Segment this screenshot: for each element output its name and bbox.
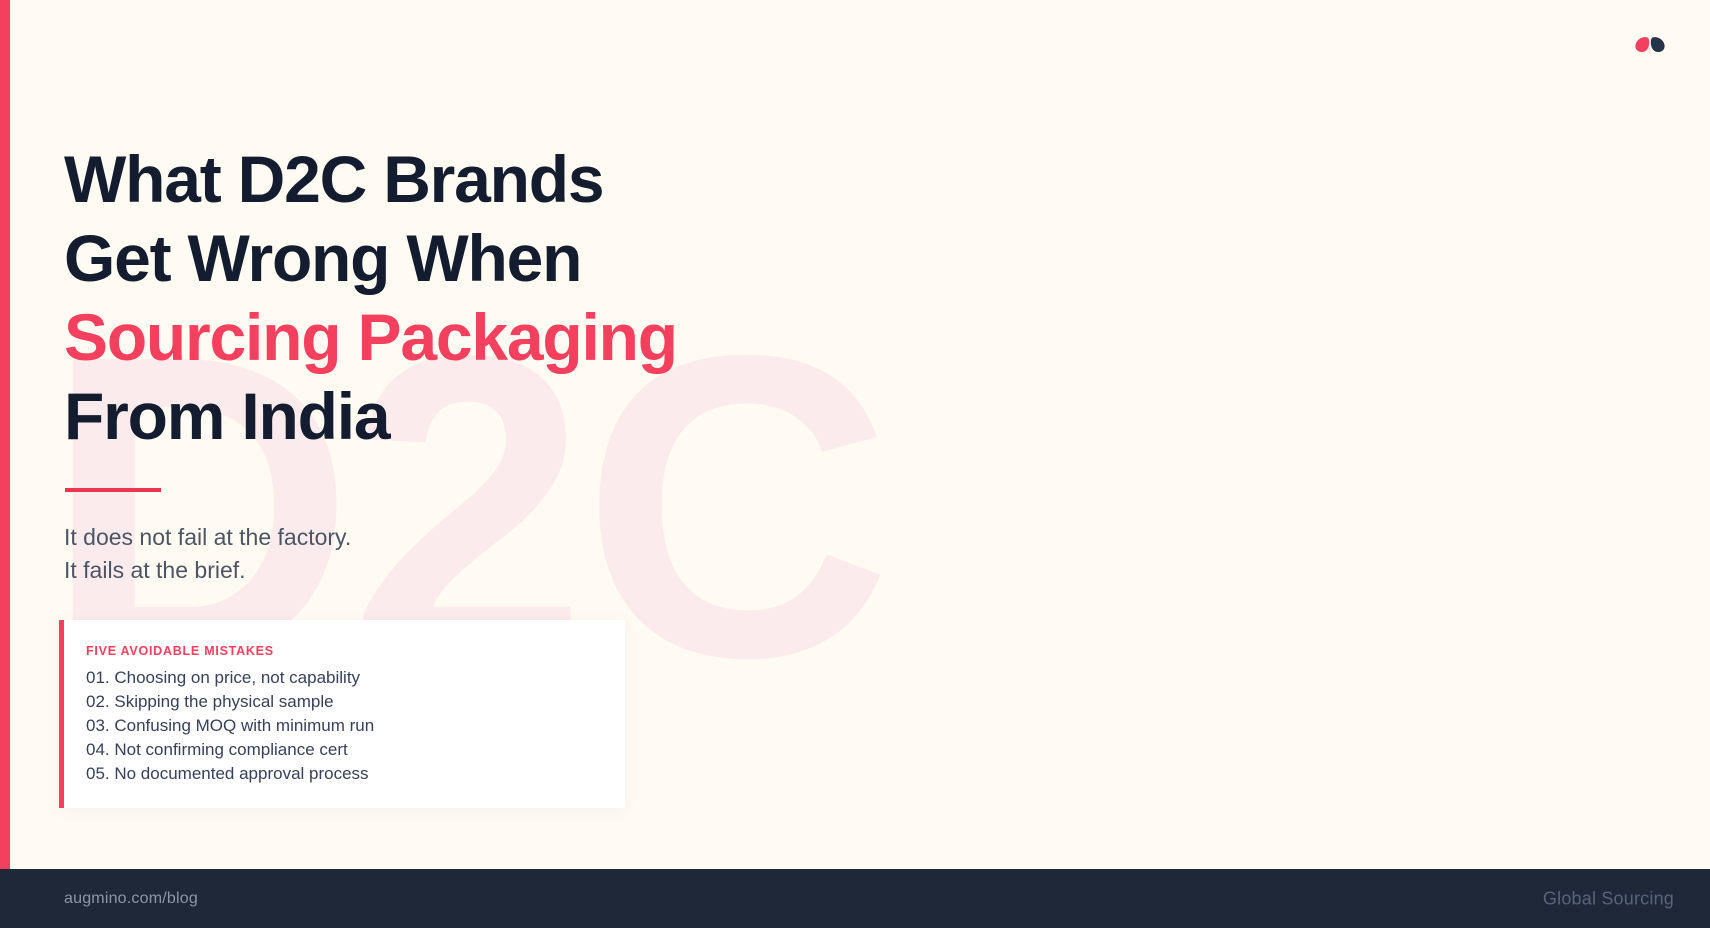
page-title: What D2C Brands Get Wrong When Sourcing … (64, 140, 677, 456)
list-item: 04. Not confirming compliance cert (86, 738, 625, 762)
card-eyebrow-label: FIVE AVOIDABLE MISTAKES (86, 644, 625, 658)
headline-line-3-accent: Sourcing Packaging (64, 298, 677, 377)
list-item: 05. No documented approval process (86, 762, 625, 786)
list-item: 03. Confusing MOQ with minimum run (86, 714, 625, 738)
slide-canvas: D2C What D2C Brands Get Wrong When Sourc… (0, 0, 1710, 928)
mistakes-card: FIVE AVOIDABLE MISTAKES 01. Choosing on … (59, 620, 625, 808)
left-accent-rail (0, 0, 10, 869)
headline-line-1: What D2C Brands (64, 140, 677, 219)
content-column: What D2C Brands Get Wrong When Sourcing … (64, 0, 1064, 869)
footer-tagline: Global Sourcing (1543, 888, 1674, 909)
headline-line-2: Get Wrong When (64, 219, 677, 298)
mistakes-list: 01. Choosing on price, not capability 02… (64, 666, 625, 786)
footer-url[interactable]: augmino.com/blog (64, 890, 198, 908)
list-item: 02. Skipping the physical sample (86, 690, 625, 714)
headline-line-4: From India (64, 377, 677, 456)
augmino-logo-icon[interactable] (1630, 32, 1670, 62)
accent-divider (65, 488, 161, 492)
subheadline: It does not fail at the factory. It fail… (64, 521, 351, 587)
subheadline-line-1: It does not fail at the factory. (64, 521, 351, 554)
subheadline-line-2: It fails at the brief. (64, 554, 351, 587)
footer-bar: augmino.com/blog Global Sourcing (0, 869, 1710, 928)
list-item: 01. Choosing on price, not capability (86, 666, 625, 690)
